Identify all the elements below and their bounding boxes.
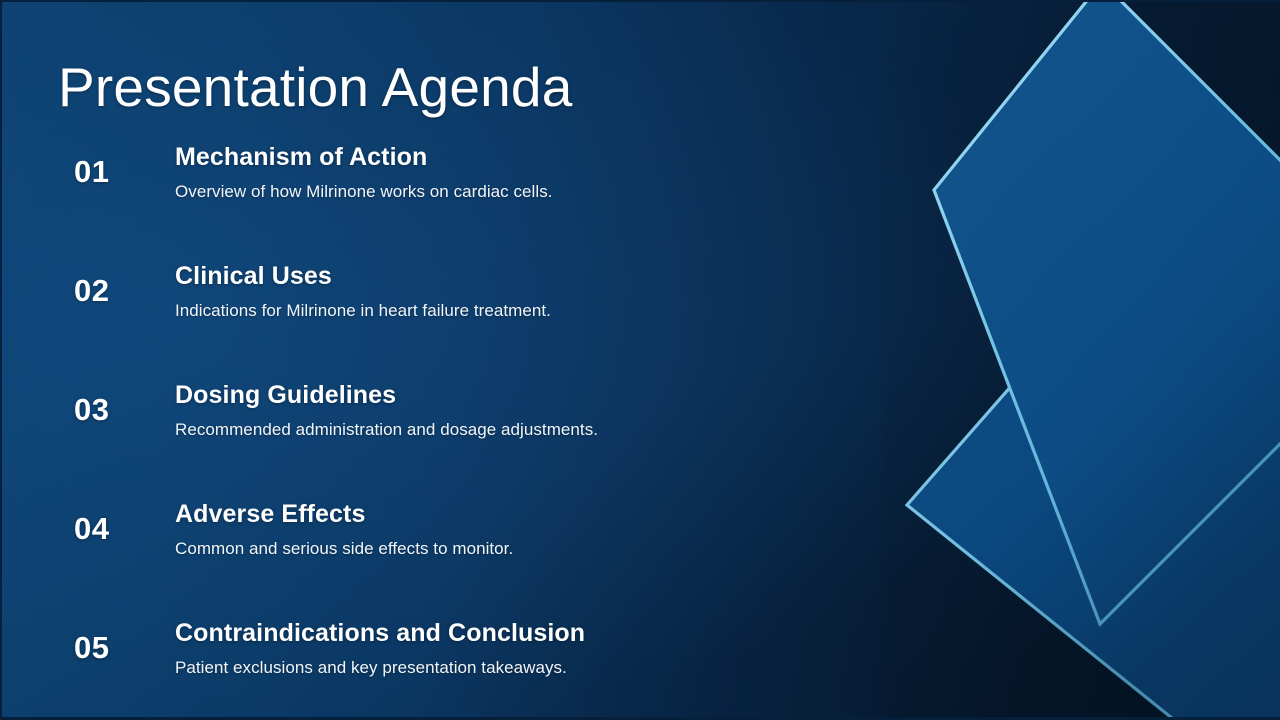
agenda-item-heading: Mechanism of Action xyxy=(175,139,835,177)
agenda-item-description: Recommended administration and dosage ad… xyxy=(175,418,835,443)
agenda-item-heading: Contraindications and Conclusion xyxy=(175,615,835,653)
agenda-item[interactable]: 03 Dosing Guidelines Recommended adminis… xyxy=(2,392,862,511)
presentation-slide: Presentation Agenda 01 Mechanism of Acti… xyxy=(0,0,1280,720)
agenda-item-heading: Dosing Guidelines xyxy=(175,377,835,415)
page-title: Presentation Agenda xyxy=(58,59,572,117)
agenda-item-number: 05 xyxy=(74,630,166,666)
agenda-item-body: Mechanism of Action Overview of how Milr… xyxy=(175,139,835,204)
slide-content: Presentation Agenda 01 Mechanism of Acti… xyxy=(2,2,1280,717)
agenda-item-number: 04 xyxy=(74,511,166,547)
agenda-item-description: Common and serious side effects to monit… xyxy=(175,537,835,562)
agenda-item-body: Dosing Guidelines Recommended administra… xyxy=(175,377,835,442)
agenda-list: 01 Mechanism of Action Overview of how M… xyxy=(2,154,862,720)
agenda-item[interactable]: 04 Adverse Effects Common and serious si… xyxy=(2,511,862,630)
agenda-item-description: Overview of how Milrinone works on cardi… xyxy=(175,180,835,205)
agenda-item-number: 03 xyxy=(74,392,166,428)
agenda-item[interactable]: 02 Clinical Uses Indications for Milrino… xyxy=(2,273,862,392)
agenda-item[interactable]: 05 Contraindications and Conclusion Pati… xyxy=(2,630,862,720)
agenda-item-description: Indications for Milrinone in heart failu… xyxy=(175,299,835,324)
agenda-item-number: 01 xyxy=(74,154,166,190)
agenda-item-description: Patient exclusions and key presentation … xyxy=(175,656,835,681)
agenda-item-heading: Adverse Effects xyxy=(175,496,835,534)
agenda-item[interactable]: 01 Mechanism of Action Overview of how M… xyxy=(2,154,862,273)
agenda-item-body: Adverse Effects Common and serious side … xyxy=(175,496,835,561)
agenda-item-number: 02 xyxy=(74,273,166,309)
agenda-item-body: Clinical Uses Indications for Milrinone … xyxy=(175,258,835,323)
agenda-item-body: Contraindications and Conclusion Patient… xyxy=(175,615,835,680)
agenda-item-heading: Clinical Uses xyxy=(175,258,835,296)
